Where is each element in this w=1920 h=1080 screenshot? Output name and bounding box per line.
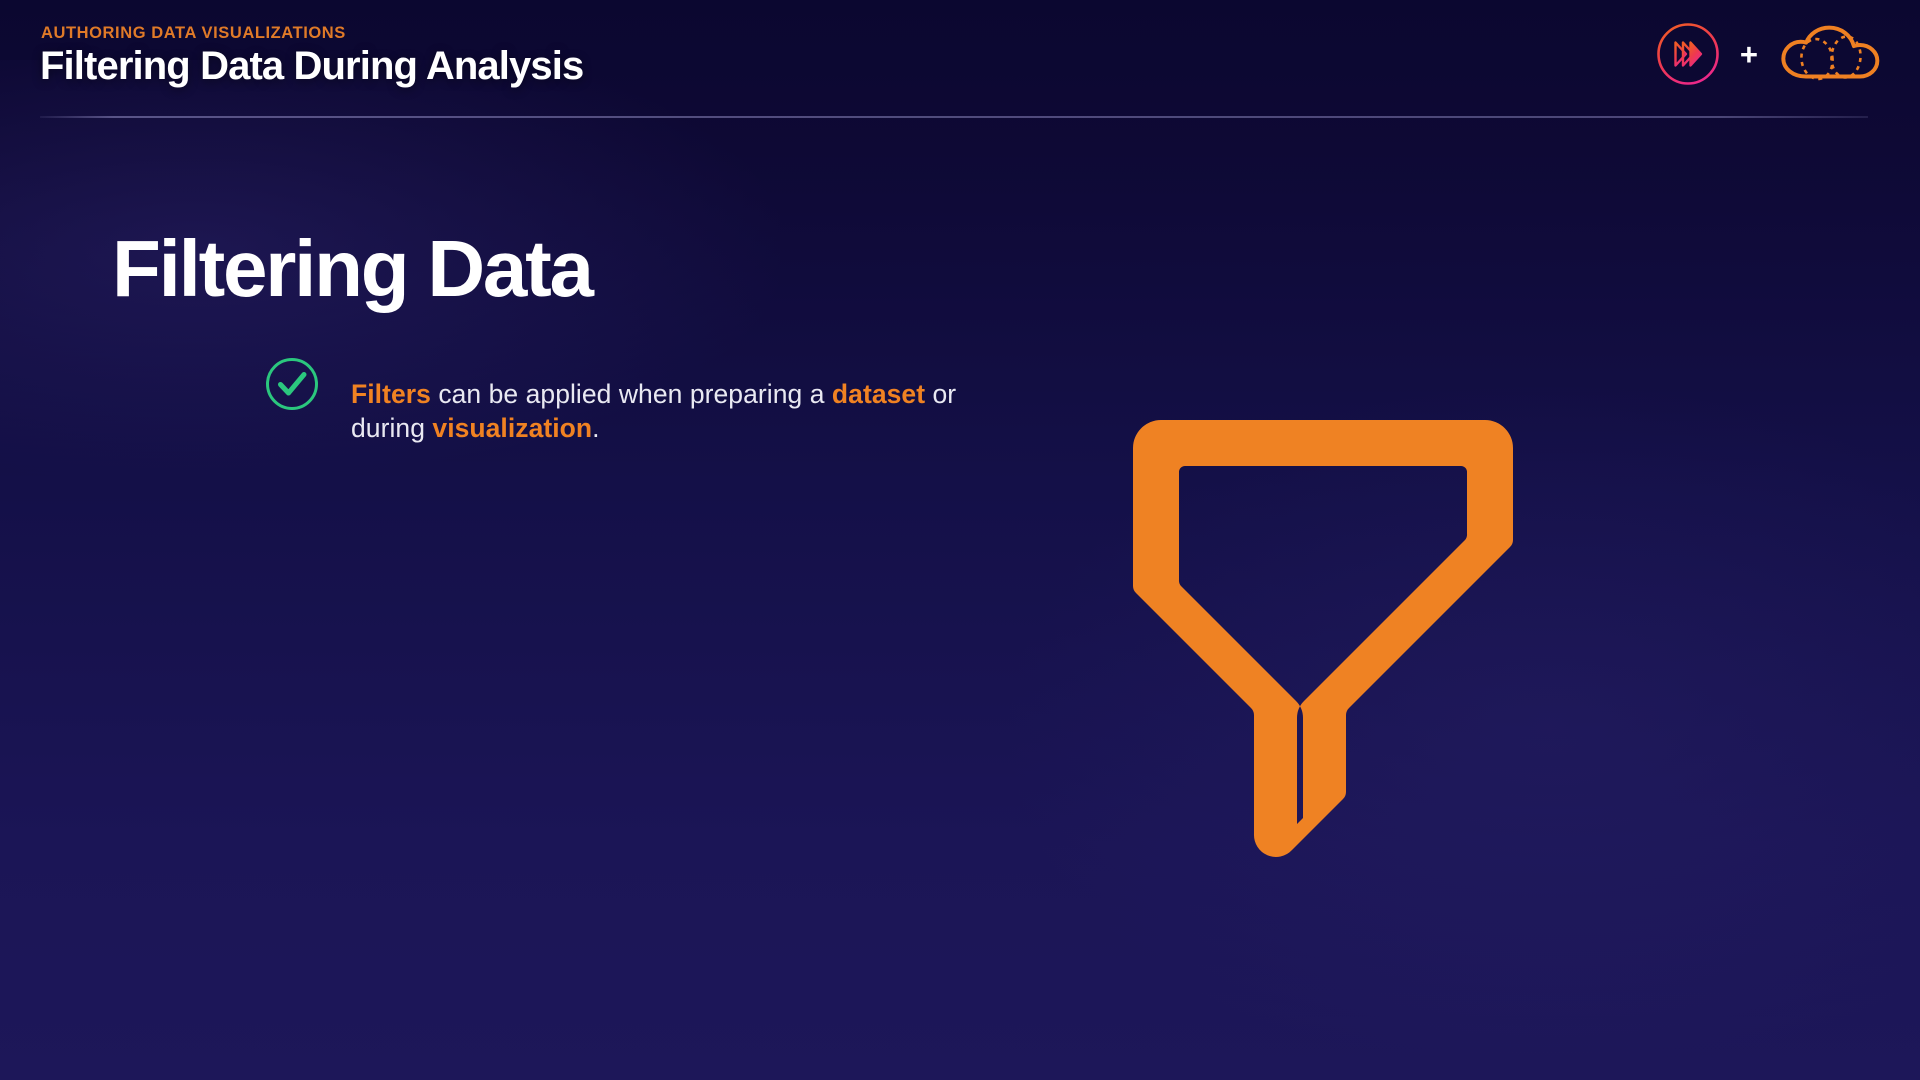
header-divider [40, 116, 1868, 118]
bullet-plain-1: can be applied when preparing a [431, 379, 832, 409]
header-kicker: AUTHORING DATA VISUALIZATIONS [41, 24, 346, 43]
page-title: Filtering Data [112, 229, 592, 309]
header-title: Filtering Data During Analysis [40, 44, 583, 89]
check-circle-icon [264, 356, 320, 417]
bullet-plain-3: . [592, 413, 599, 443]
bullet-highlight-visualization: visualization [432, 413, 592, 443]
cloud-logo [1776, 22, 1884, 86]
bullet-highlight-dataset: dataset [832, 379, 925, 409]
slide-header: AUTHORING DATA VISUALIZATIONS Filtering … [0, 0, 1920, 120]
bullet-text: Filters can be applied when preparing a … [351, 377, 971, 446]
funnel-icon [1125, 412, 1521, 865]
play-circle-logo [1654, 20, 1722, 88]
bullet-item: Filters can be applied when preparing a … [264, 350, 971, 472]
brand-logo-group: + [1654, 20, 1884, 88]
slide: AUTHORING DATA VISUALIZATIONS Filtering … [0, 0, 1920, 1080]
bullet-highlight-filters: Filters [351, 379, 431, 409]
brand-plus-symbol: + [1736, 39, 1762, 70]
